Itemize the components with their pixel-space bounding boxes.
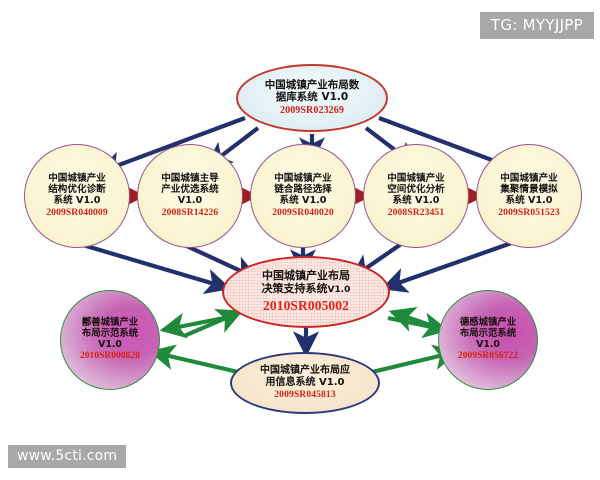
node-label-line2: 链合路径选择 [274,184,332,195]
node-shanshan-demo-system[interactable]: 鄯善城镇产业 布局示范系统 V1.0 2010SR000820 [60,290,160,390]
node-label-line3: 系统 V1.0 [54,195,101,206]
node-structure-optimization-diagnosis[interactable]: 中国城镇产业 结构优化诊断 系统 V1.0 2009SR040009 [24,144,130,248]
node-registration-code: 2010SR005002 [263,298,349,315]
node-registration-code: 2009SR023269 [280,105,344,118]
node-label-line3: V1.0 [476,339,500,350]
node-label-line2-text: 决策支持系统 [262,282,328,295]
node-application-information-system[interactable]: 中国城镇产业布局应 用信息系统 V1.0 2009SR045813 [230,352,380,414]
node-label-line2: 布局示范系统 [82,328,138,339]
node-registration-code: 2008SR23451 [388,207,445,219]
node-label-line2: 产业优选系统 [161,184,219,195]
node-label-line2: 布局示范系统 [460,328,516,339]
node-label-line2: 空间优化分析 [387,184,445,195]
node-label-line1: 鄯善城镇产业 [82,317,138,328]
node-label-line1: 中国城镇产业 [387,173,445,184]
node-label-line1: 中国城镇产业布局应 [260,365,350,377]
node-label-line2: 决策支持系统V1.0 [262,283,351,296]
node-database-system[interactable]: 中国城镇产业布局数 据库系统 V1.0 2009SR023269 [236,64,388,132]
diagram-canvas: 中国城镇产业布局数 据库系统 V1.0 2009SR023269 中国城镇产业 … [0,0,600,480]
node-label-line3: 系统 V1.0 [393,195,440,206]
node-registration-code: 2009SR040020 [272,207,333,219]
node-registration-code: 2009SR040009 [46,207,107,219]
node-label-line2: 结构优化诊断 [48,184,106,195]
node-registration-code: 2009SR045813 [274,389,335,401]
node-degan-demo-system[interactable]: 德感城镇产业 布局示范系统 V1.0 2009SR056722 [438,290,538,390]
watermark-bottom-left: www.5cti.com [8,445,126,468]
node-registration-code: 2010SR000820 [80,351,140,363]
node-label-line1: 德感城镇产业 [460,317,516,328]
node-agglomeration-scenario-simulation[interactable]: 中国城镇产业 集聚情景模拟 系统 V1.0 2009SR051523 [476,144,582,248]
node-label-line2: 集聚情景模拟 [500,184,558,195]
node-chain-path-selection[interactable]: 中国城镇产业 链合路径选择 系统 V1.0 2009SR040020 [250,144,356,248]
node-registration-code: 2008SR14226 [162,207,219,219]
node-decision-support-system[interactable]: 中国城镇产业布局 决策支持系统V1.0 2010SR005002 [222,256,390,328]
node-label-line3: V1.0 [98,339,122,350]
node-spatial-optimization-analysis[interactable]: 中国城镇产业 空间优化分析 系统 V1.0 2008SR23451 [363,144,469,248]
node-label-line3: 系统 V1.0 [280,195,327,206]
node-label-line1: 中国城镇产业 [500,173,558,184]
watermark-top-right: TG: MYYJJPP [480,12,594,39]
node-registration-code: 2009SR056722 [458,351,518,363]
node-label-line1: 中国城镇产业 [274,173,332,184]
node-label-line3: 系统 V1.0 [506,195,553,206]
node-label-line2: 用信息系统 V1.0 [266,377,345,389]
node-version-label: V1.0 [328,285,351,295]
node-label-line1: 中国城镇产业 [48,173,106,184]
node-label-line3: V1.0 [178,195,202,206]
node-label-line2: 据库系统 V1.0 [276,91,348,103]
node-registration-code: 2009SR051523 [498,207,559,219]
node-leading-industry-selection[interactable]: 中国城镇主导 产业优选系统 V1.0 2008SR14226 [137,144,243,248]
node-label-line1: 中国城镇主导 [161,173,219,184]
node-label-line1: 中国城镇产业布局数 [265,79,360,91]
